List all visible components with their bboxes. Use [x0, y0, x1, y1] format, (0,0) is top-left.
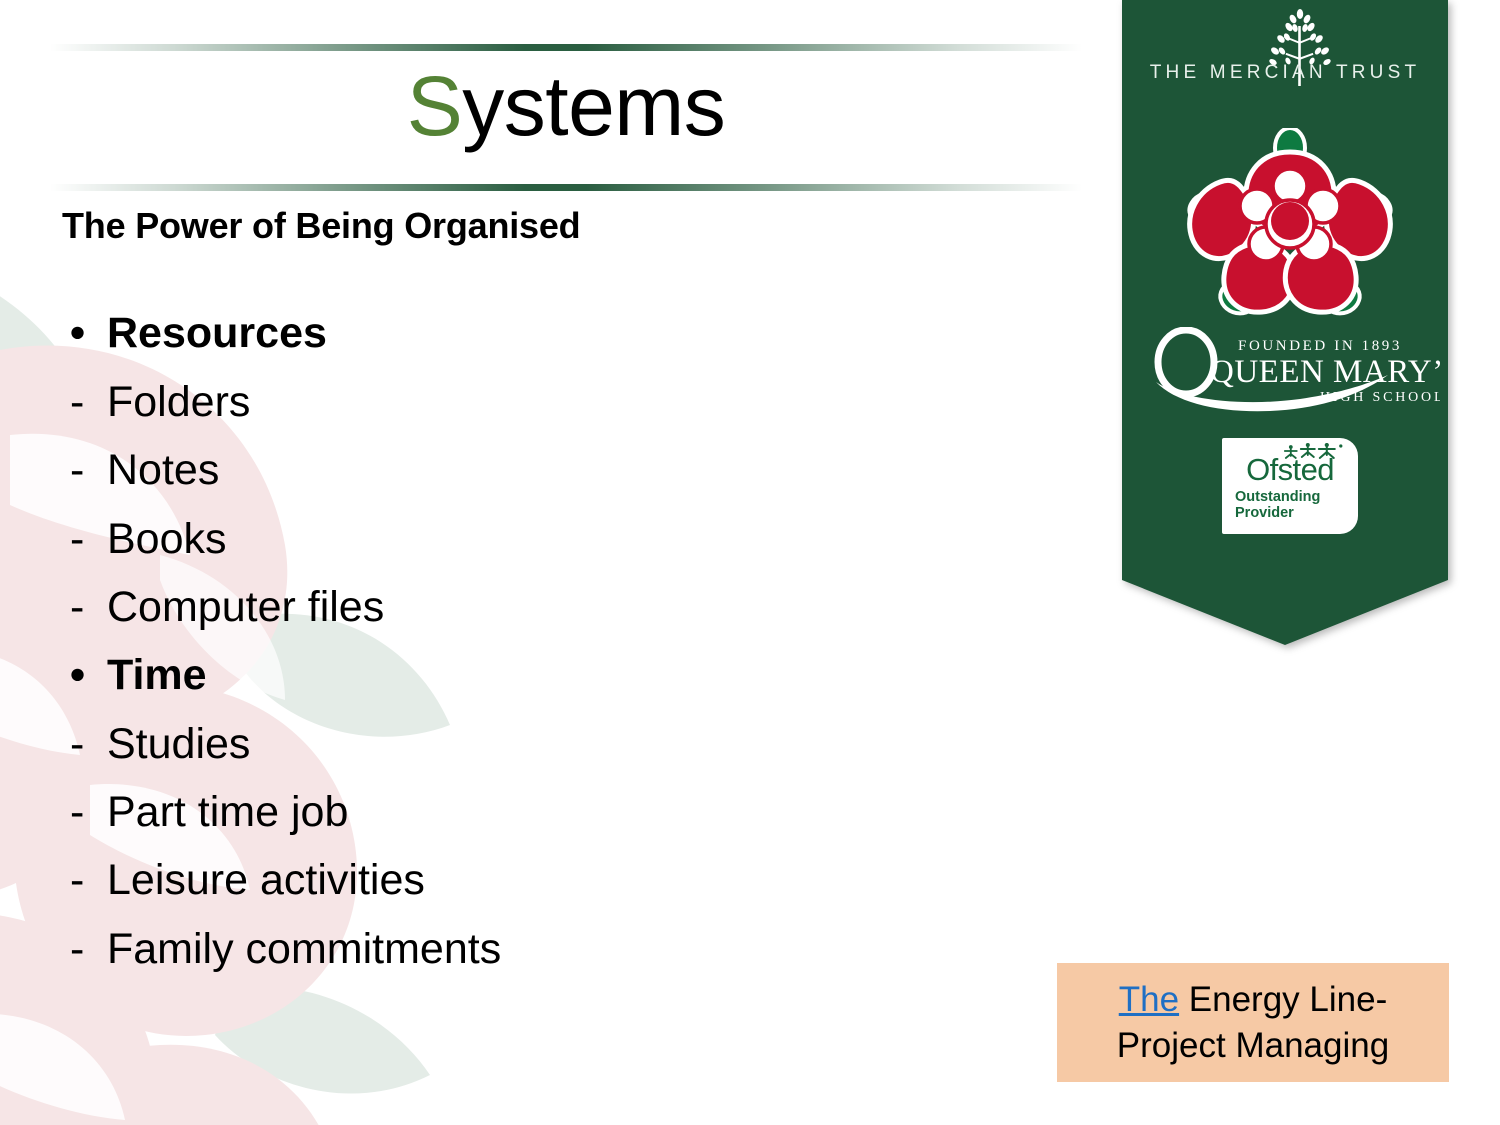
- bullet-marker: •: [70, 299, 107, 367]
- bullet-marker: -: [70, 778, 107, 846]
- list-item: -Notes: [62, 436, 1072, 504]
- list-item: •Time: [62, 641, 1072, 709]
- the-hyperlink[interactable]: The: [1119, 980, 1179, 1019]
- slide-canvas: Systems The Power of Being Organised •Re…: [0, 0, 1500, 1125]
- ofsted-rating: Outstanding Provider: [1222, 489, 1358, 521]
- header-divider-bottom: [50, 184, 1082, 191]
- school-banner: [1122, 0, 1448, 650]
- ofsted-stars-icon: [1284, 443, 1346, 460]
- link-line-2: Project Managing: [1117, 1023, 1389, 1069]
- list-item-label: Books: [107, 515, 227, 563]
- list-item-label: Studies: [107, 720, 250, 768]
- resource-link-box[interactable]: The Energy Line- Project Managing: [1057, 963, 1449, 1082]
- bullet-marker: •: [70, 641, 107, 709]
- bullet-marker: -: [70, 846, 107, 914]
- link-line-1-rest: Energy Line-: [1179, 980, 1387, 1019]
- bullet-marker: -: [70, 573, 107, 641]
- ofsted-rating-line2: Provider: [1235, 505, 1358, 521]
- header-divider-top: [50, 44, 1082, 51]
- bullet-marker: -: [70, 368, 107, 436]
- trust-name: THE MERCIAN TRUST: [1122, 62, 1448, 84]
- list-item: -Family commitments: [62, 915, 1072, 983]
- school-subtitle: HIGH SCHOOL: [1320, 390, 1440, 405]
- list-item: -Leisure activities: [62, 846, 1072, 914]
- bullet-marker: -: [70, 436, 107, 504]
- school-wordmark: FOUNDED IN 1893 QUEEN MARY’S HIGH SCHOOL: [1150, 327, 1440, 413]
- title-remainder: ystems: [462, 59, 725, 153]
- ofsted-badge: Ofsted Outstanding Provider: [1222, 438, 1358, 534]
- list-item-label: Time: [107, 651, 207, 699]
- list-item-label: Resources: [107, 309, 327, 357]
- bullet-marker: -: [70, 915, 107, 983]
- link-line-1: The Energy Line-: [1119, 977, 1387, 1023]
- content-body: The Power of Being Organised •Resources …: [62, 205, 1072, 983]
- list-item: •Resources: [62, 299, 1072, 367]
- list-item-label: Computer files: [107, 583, 384, 631]
- list-item: -Part time job: [62, 778, 1072, 846]
- list-item: -Studies: [62, 710, 1072, 778]
- list-item-label: Part time job: [107, 788, 348, 836]
- bullet-marker: -: [70, 710, 107, 778]
- ofsted-rating-line1: Outstanding: [1235, 489, 1358, 505]
- list-item: -Books: [62, 505, 1072, 573]
- title-initial-letter: S: [407, 59, 463, 153]
- school-name: QUEEN MARY’S: [1210, 354, 1440, 390]
- school-founded: FOUNDED IN 1893: [1238, 338, 1402, 354]
- list-item: -Computer files: [62, 573, 1072, 641]
- list-item: -Folders: [62, 368, 1072, 436]
- list-item-label: Leisure activities: [107, 856, 425, 904]
- page-title: Systems: [50, 62, 1082, 150]
- tudor-rose-icon: [1186, 128, 1394, 318]
- list-item-label: Folders: [107, 378, 250, 426]
- list-item-label: Family commitments: [107, 925, 501, 973]
- bullet-marker: -: [70, 505, 107, 573]
- list-item-label: Notes: [107, 446, 219, 494]
- subheading: The Power of Being Organised: [62, 205, 1072, 247]
